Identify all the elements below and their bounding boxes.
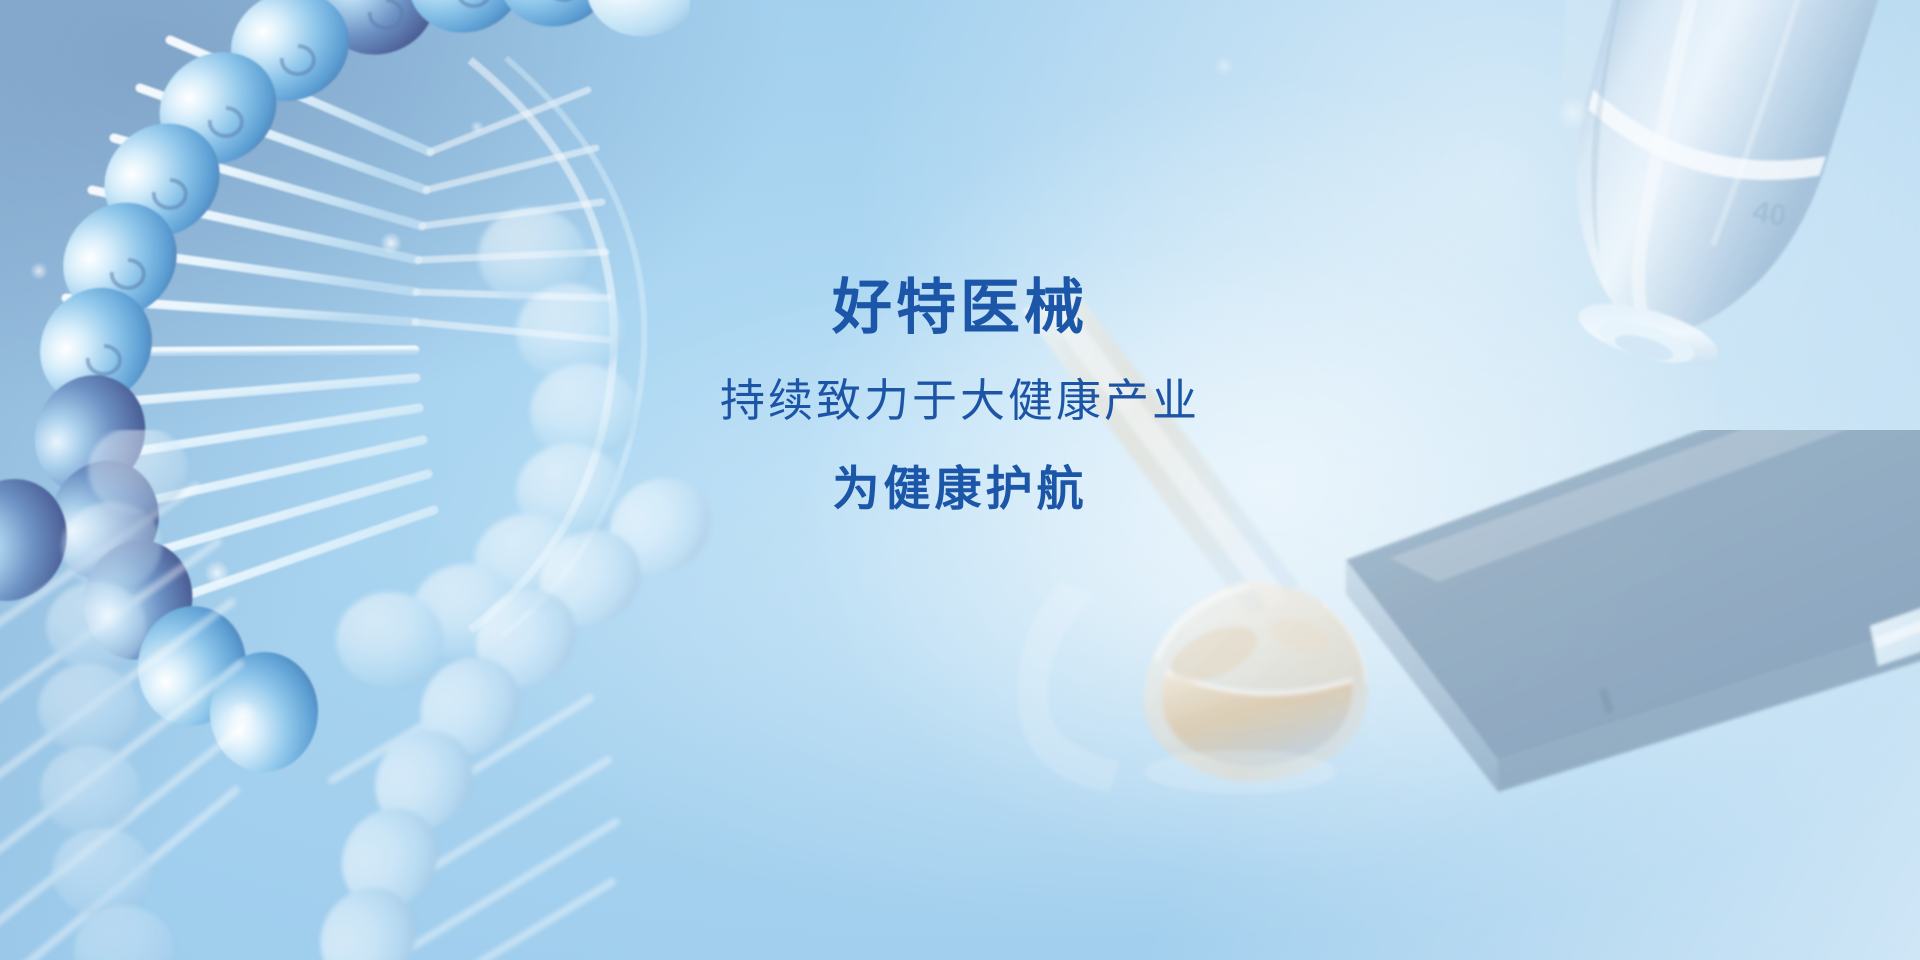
svg-text:40: 40 <box>1750 195 1789 233</box>
hero-banner: 40 <box>0 0 1920 960</box>
company-subtitle: 持续致力于大健康产业 <box>0 376 1920 426</box>
headline-block: 好特医械 持续致力于大健康产业 为健康护航 <box>0 276 1920 515</box>
company-tagline: 为健康护航 <box>0 463 1920 515</box>
company-title: 好特医械 <box>0 276 1920 340</box>
bokeh-speck <box>1214 56 1234 76</box>
